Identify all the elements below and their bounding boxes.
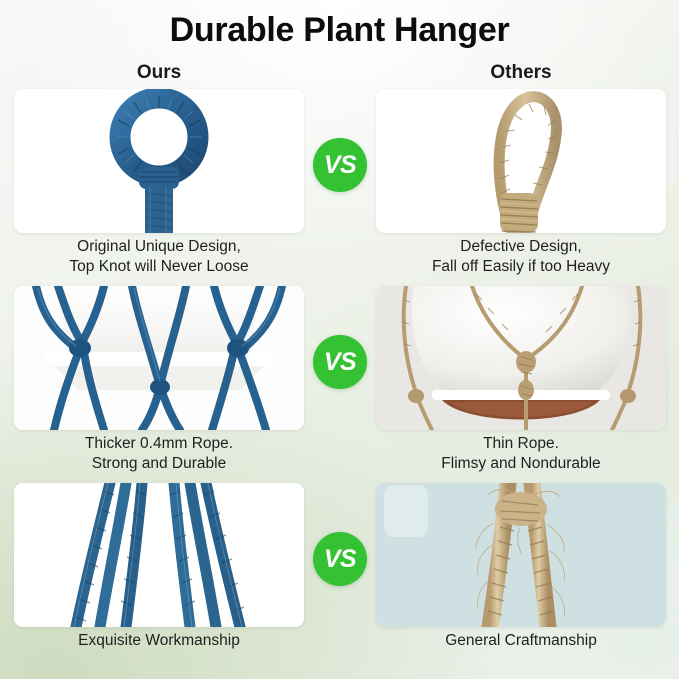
vs-badge-3: VS [313, 532, 367, 586]
thin-jute-around-white-pot-photo [376, 286, 666, 430]
others-image-card-1 [376, 89, 666, 233]
others-image-card-2 [376, 286, 666, 430]
ours-caption-3: Exquisite Workmanship [14, 631, 304, 651]
jute-rope-loop-photo [376, 89, 666, 233]
ours-image-card-2 [14, 286, 304, 430]
ours-image-card-3 [14, 483, 304, 627]
page-title: Durable Plant Hanger [0, 11, 679, 50]
frayed-jute-rope-closeup-photo [376, 483, 666, 627]
ours-caption-1: Original Unique Design, Top Knot will Ne… [14, 237, 304, 277]
ours-image-card-1 [14, 89, 304, 233]
vs-badge-1: VS [313, 138, 367, 192]
blue-cords-cradling-white-pot-photo [14, 286, 304, 430]
others-caption-3: General Craftmanship [376, 631, 666, 651]
vs-badge-2: VS [313, 335, 367, 389]
blue-twisted-cords-closeup-photo [14, 483, 304, 627]
others-caption-2: Thin Rope. Flimsy and Nondurable [376, 434, 666, 474]
blue-macrame-ring-knot-photo [14, 89, 304, 233]
others-caption-1: Defective Design, Fall off Easily if too… [376, 237, 666, 277]
column-header-others: Others [376, 62, 666, 84]
ours-caption-2: Thicker 0.4mm Rope. Strong and Durable [14, 434, 304, 474]
column-header-ours: Ours [14, 62, 304, 84]
comparison-infographic: Durable Plant Hanger Ours Others [0, 0, 679, 679]
others-image-card-3 [376, 483, 666, 627]
